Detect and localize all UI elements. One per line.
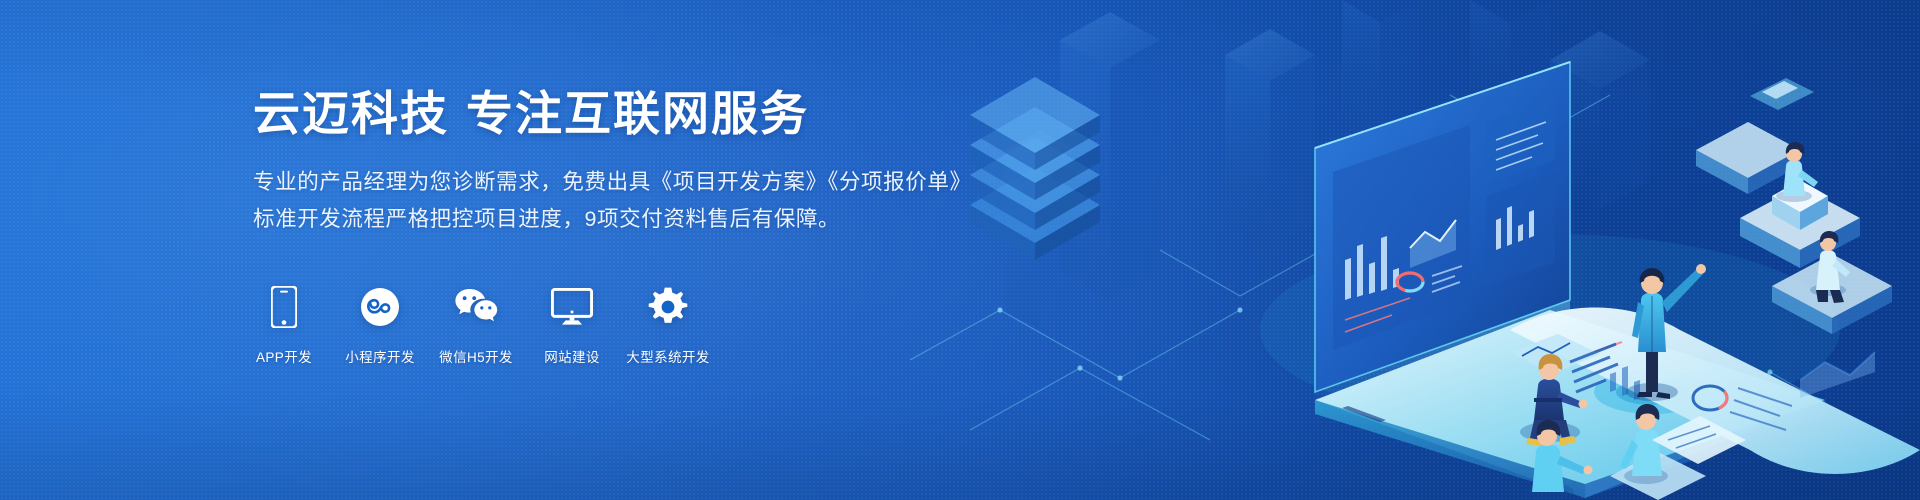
service-label-website: 网站建设 <box>544 346 600 366</box>
monitor-icon <box>551 285 593 329</box>
hologram-tag <box>1750 78 1814 110</box>
illustration-container <box>910 0 1920 500</box>
subtitle-line-2: 标准开发流程严格把控项目进度，9项交付资料售后有保障。 <box>253 201 1133 238</box>
title-part-1: 云迈科技 <box>253 87 449 140</box>
service-item-app[interactable]: APP开发 <box>249 285 319 366</box>
service-label-app: APP开发 <box>256 346 312 366</box>
service-label-large-system: 大型系统开发 <box>626 346 709 366</box>
gear-icon <box>647 285 689 329</box>
service-item-large-system[interactable]: 大型系统开发 <box>633 285 703 366</box>
service-item-wechat[interactable]: 微信H5开发 <box>441 285 511 366</box>
banner-copy: 云迈科技专注互联网服务 专业的产品经理为您诊断需求，免费出具《项目开发方案》《分… <box>253 88 1133 238</box>
mobile-phone-icon <box>271 285 297 329</box>
banner-subtitle: 专业的产品经理为您诊断需求，免费出具《项目开发方案》《分项报价单》 标准开发流程… <box>253 164 1133 238</box>
service-list: APP开发 小程序开发 <box>249 285 703 366</box>
subtitle-line-1: 专业的产品经理为您诊断需求，免费出具《项目开发方案》《分项报价单》 <box>253 164 1133 201</box>
service-label-mini-program: 小程序开发 <box>345 346 415 366</box>
service-item-mini-program[interactable]: 小程序开发 <box>345 285 415 366</box>
title-part-2: 专注互联网服务 <box>466 87 809 140</box>
mini-program-icon <box>360 285 400 329</box>
service-label-wechat: 微信H5开发 <box>439 346 513 366</box>
isometric-illustration <box>910 0 1920 500</box>
page-title: 云迈科技专注互联网服务 <box>253 88 1133 141</box>
hero-banner: 云迈科技专注互联网服务 专业的产品经理为您诊断需求，免费出具《项目开发方案》《分… <box>0 0 1920 500</box>
wechat-icon <box>453 285 499 329</box>
service-item-website[interactable]: 网站建设 <box>537 285 607 366</box>
